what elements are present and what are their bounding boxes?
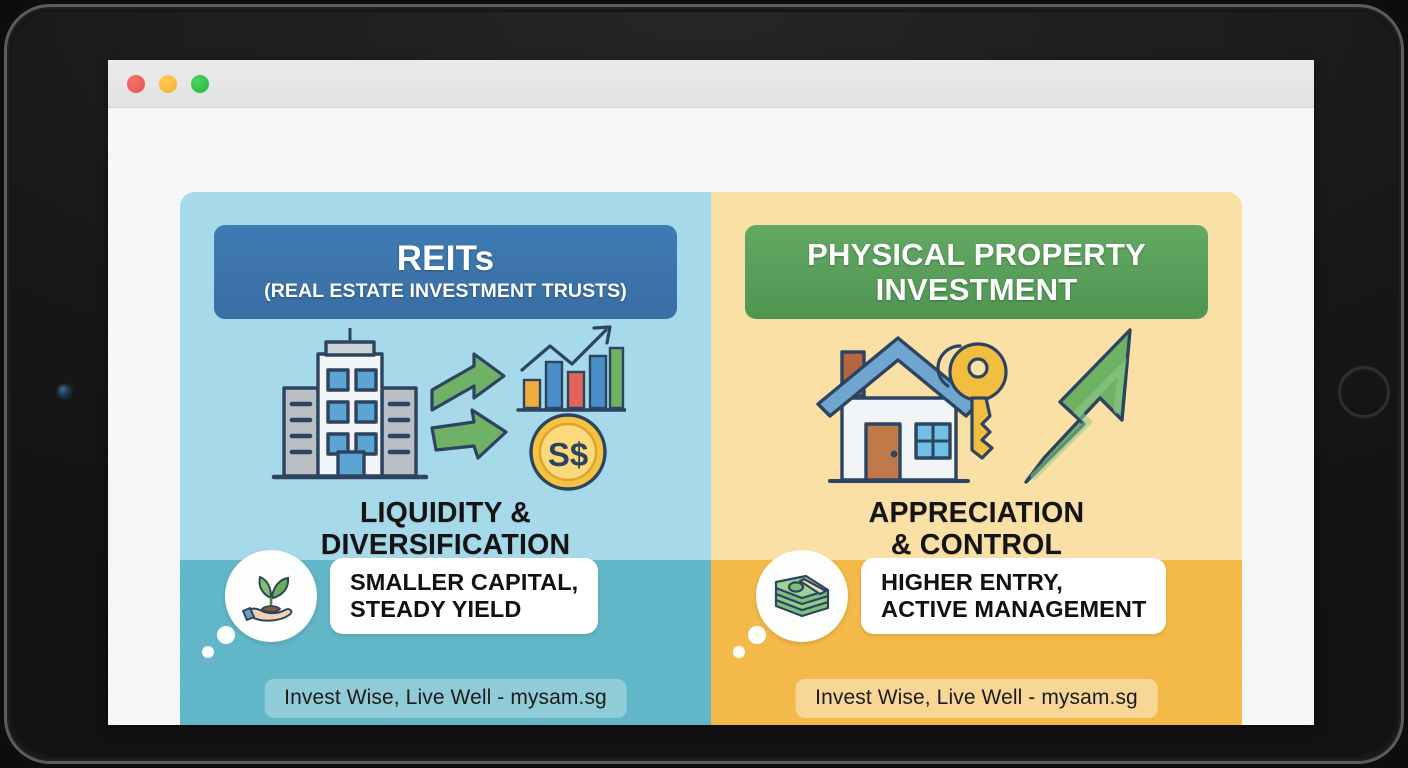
property-tagline: Invest Wise, Live Well - mysam.sg [795,679,1158,718]
bubble-dot-small [733,646,745,658]
minimize-window-button[interactable] [159,75,177,93]
property-illustration-svg [812,324,1142,496]
property-illustration [711,322,1242,497]
reits-highlight-row: SMALLER CAPITAL, STEADY YIELD [180,550,711,642]
front-camera-icon [58,385,71,398]
green-arrow-up-icon [1026,330,1130,482]
bubble-dot-large [748,626,766,644]
svg-text:S$: S$ [547,436,587,473]
cash-stack-icon [770,570,834,622]
green-arrow-up-right-icon [432,354,504,410]
maximize-window-button[interactable] [191,75,209,93]
reits-illustration-svg: S$ [266,324,626,496]
property-thought-bubble [756,550,848,642]
reits-title: REITs [397,241,495,277]
reits-header-chip: REITs (REAL ESTATE INVESTMENT TRUSTS) [214,225,677,319]
bar-chart-growth-icon [518,327,626,410]
page-content: REITs (REAL ESTATE INVESTMENT TRUSTS) [108,108,1314,725]
close-window-button[interactable] [127,75,145,93]
reits-tagline: Invest Wise, Live Well - mysam.sg [264,679,627,718]
property-highlight-row: HIGHER ENTRY, ACTIVE MANAGEMENT [711,550,1242,642]
bubble-dot-large [217,626,235,644]
hand-holding-sprout-icon [240,567,302,625]
sgd-coin-icon: S$ [531,415,605,489]
office-building-icon [274,328,426,477]
reits-subtitle: (REAL ESTATE INVESTMENT TRUSTS) [264,280,627,303]
browser-window: REITs (REAL ESTATE INVESTMENT TRUSTS) [108,60,1314,725]
bubble-dot-small [202,646,214,658]
property-header-chip: PHYSICAL PROPERTY INVESTMENT [745,225,1208,319]
tablet-device: REITs (REAL ESTATE INVESTMENT TRUSTS) [4,4,1404,764]
property-title-line2: INVESTMENT [876,272,1078,307]
reits-highlight-pill: SMALLER CAPITAL, STEADY YIELD [330,558,598,635]
home-button[interactable] [1338,366,1390,418]
browser-titlebar [108,60,1314,108]
property-highlight-pill: HIGHER ENTRY, ACTIVE MANAGEMENT [861,558,1166,635]
reits-panel: REITs (REAL ESTATE INVESTMENT TRUSTS) [180,192,711,725]
green-arrow-down-right-icon [432,410,506,458]
reits-thought-bubble [225,550,317,642]
physical-property-panel: PHYSICAL PROPERTY INVESTMENT [711,192,1242,725]
property-title-line1: PHYSICAL PROPERTY [807,237,1146,272]
reits-illustration: S$ [180,322,711,497]
comparison-infographic: REITs (REAL ESTATE INVESTMENT TRUSTS) [180,192,1242,725]
